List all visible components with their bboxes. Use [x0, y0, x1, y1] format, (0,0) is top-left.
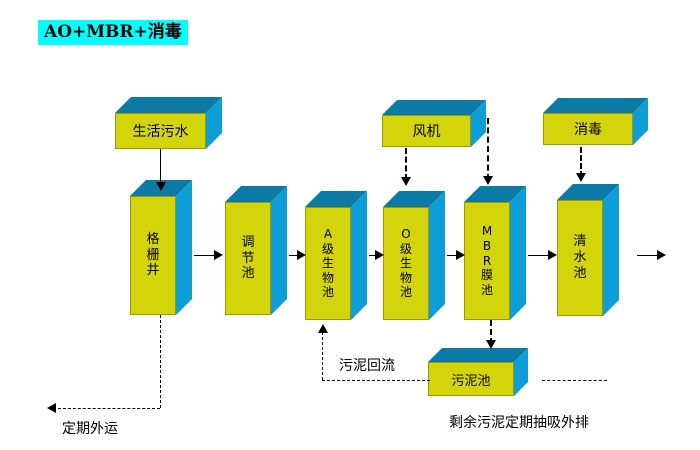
label-char: 节: [241, 251, 254, 267]
box-a-stage-bio-tank[interactable]: A 级 生 物 池: [305, 191, 369, 320]
box-label-clean-water-tank: 清 水 池: [557, 200, 603, 316]
box-label-blower: 风机: [382, 115, 471, 147]
box-label-grille-well: 格 栅 井: [130, 196, 176, 315]
connector-blower-to-o-stage: [405, 148, 407, 180]
box-top-face: [382, 100, 486, 115]
flow-diagram-canvas: AO+MBR+消毒 生活污水 风机 消毒 格 栅 井 调 节: [0, 0, 700, 450]
arrowhead-down: [401, 177, 411, 186]
connector-blower-to-mbr: [487, 118, 489, 180]
label-char: 格: [146, 232, 159, 248]
box-label-mbr-membrane-tank: M B R 膜 池: [464, 202, 510, 320]
label-char: A: [324, 227, 332, 242]
box-side-face: [176, 180, 192, 315]
arrowhead-down: [483, 176, 493, 185]
connector-sewage-to-grille: [160, 149, 161, 186]
caption-excess-sludge: 剩余污泥定期抽吸外排: [449, 412, 589, 432]
arrowhead-right: [548, 250, 557, 260]
label-char: 水: [573, 250, 586, 266]
box-disinfection[interactable]: 消毒: [543, 98, 663, 160]
box-top-face: [543, 98, 648, 113]
box-side-face: [271, 186, 287, 315]
box-side-face: [429, 191, 445, 320]
box-label-a-stage-bio-tank: A 级 生 物 池: [305, 207, 351, 320]
box-top-face: [428, 348, 528, 362]
box-side-face: [351, 191, 367, 320]
label-char: 级: [322, 242, 334, 257]
box-blower[interactable]: 风机: [382, 100, 502, 162]
box-label-regulating-tank: 调 节 池: [225, 202, 271, 315]
box-mbr-membrane-tank[interactable]: M B R 膜 池: [464, 186, 528, 320]
box-label-sludge-tank: 污泥池: [428, 362, 514, 396]
label-char: 清: [573, 234, 586, 250]
label-char: 膜: [481, 268, 493, 283]
label-char: 调: [241, 235, 254, 251]
arrowhead-up: [318, 324, 328, 333]
label-char: M: [482, 224, 492, 239]
connector-grille-to-haul-horizontal: [58, 408, 160, 409]
label-char: R: [483, 254, 491, 269]
label-char: 池: [573, 266, 586, 282]
arrowhead-right: [214, 250, 223, 260]
box-clean-water-tank[interactable]: 清 水 池: [557, 184, 621, 316]
connector-grille-to-regulating: [194, 255, 216, 256]
box-sludge-tank[interactable]: 污泥池: [428, 348, 542, 396]
label-char: O: [401, 227, 410, 242]
box-top-face: [115, 97, 222, 113]
box-label-domestic-sewage: 生活污水: [115, 113, 206, 149]
connector-mbr-to-clean-water: [528, 255, 550, 256]
box-grille-well[interactable]: 格 栅 井: [130, 180, 194, 315]
box-label-disinfection: 消毒: [543, 113, 633, 145]
label-char: 物: [400, 271, 412, 286]
connector-grille-to-haul-vertical: [160, 315, 161, 408]
connector-sludge-return-horizontal: [322, 380, 430, 381]
diagram-title: AO+MBR+消毒: [38, 20, 188, 45]
box-o-stage-bio-tank[interactable]: O 级 生 物 池: [383, 191, 447, 320]
connector-excess-sludge-discharge: [542, 380, 607, 381]
label-char: 井: [146, 263, 159, 279]
box-regulating-tank[interactable]: 调 节 池: [225, 186, 289, 315]
box-domestic-sewage[interactable]: 生活污水: [115, 97, 238, 165]
box-side-face: [510, 186, 526, 320]
label-char: 池: [481, 283, 493, 298]
label-char: B: [483, 239, 491, 254]
caption-sludge-return: 污泥回流: [339, 355, 395, 375]
arrowhead-down: [486, 340, 496, 349]
arrowhead-right: [657, 250, 666, 260]
label-char: 生: [400, 256, 412, 271]
label-char: 级: [400, 242, 412, 257]
label-char: 池: [400, 285, 412, 300]
arrowhead-right: [456, 250, 465, 260]
label-char: 生: [322, 256, 334, 271]
box-label-o-stage-bio-tank: O 级 生 物 池: [383, 207, 429, 320]
connector-sludge-return-vertical: [322, 332, 323, 380]
caption-periodic-haul: 定期外运: [62, 418, 118, 438]
arrowhead-down: [576, 173, 586, 182]
arrowhead-down: [156, 182, 166, 191]
box-side-face: [603, 184, 619, 316]
arrowhead-right: [297, 250, 306, 260]
label-char: 栅: [146, 248, 159, 264]
arrowhead-right: [375, 250, 384, 260]
arrowhead-left: [47, 403, 56, 413]
connector-outlet: [637, 255, 659, 256]
label-char: 物: [322, 271, 334, 286]
label-char: 池: [241, 266, 254, 282]
label-char: 池: [322, 285, 334, 300]
